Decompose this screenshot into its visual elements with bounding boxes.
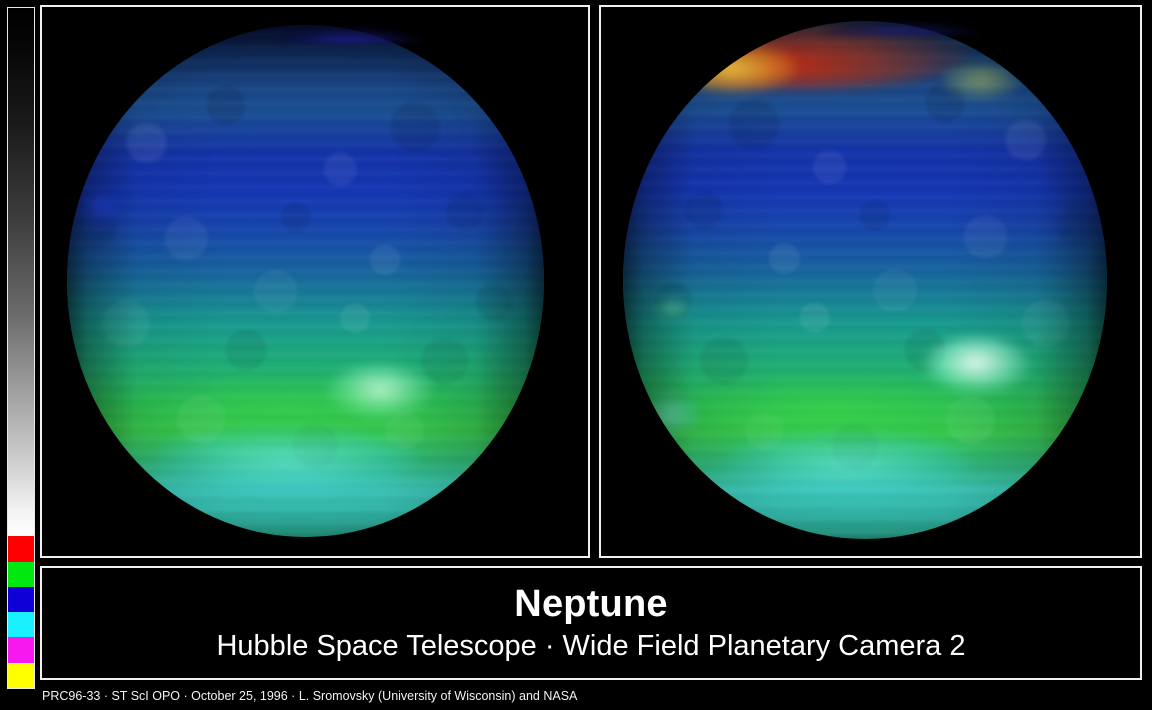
swatch-cyan (8, 612, 34, 637)
caption-subtitle: Hubble Space Telescope · Wide Field Plan… (216, 631, 965, 661)
caption-panel: Neptune Hubble Space Telescope · Wide Fi… (40, 566, 1142, 680)
neptune-disc-right (623, 21, 1107, 539)
swatch-blue (8, 587, 34, 612)
swatch-magenta (8, 637, 34, 662)
page-title: Neptune (514, 585, 667, 625)
limb-darkening-radial-right (623, 21, 1107, 539)
neptune-image-right (599, 5, 1142, 558)
color-swatch-strip (8, 536, 34, 688)
limb-darkening-radial-left (67, 25, 544, 537)
grayscale-gradient (8, 8, 34, 536)
credit-line: PRC96-33 · ST ScI OPO · October 25, 1996… (42, 689, 577, 703)
color-wedge-bar (7, 7, 35, 689)
neptune-image-left (40, 5, 590, 558)
swatch-yellow (8, 663, 34, 688)
swatch-red (8, 536, 34, 561)
swatch-green (8, 562, 34, 587)
neptune-disc-left (67, 25, 544, 537)
